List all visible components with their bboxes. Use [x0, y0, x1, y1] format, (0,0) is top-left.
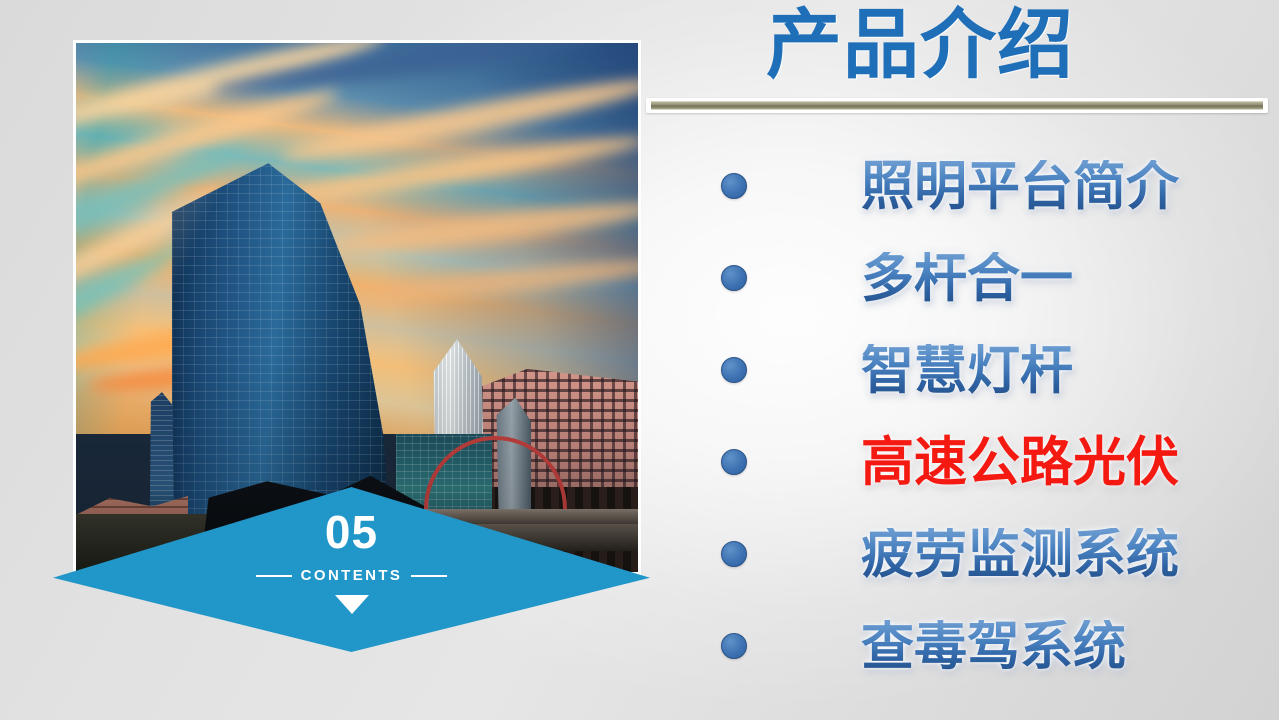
list-item[interactable]: 疲劳监测系统	[700, 508, 1260, 600]
bullet-list: 照明平台简介 多杆合一 智慧灯杆 高速公路光伏 疲劳监测系统 查毒驾系统	[700, 140, 1260, 692]
list-item-label: 疲劳监测系统	[861, 528, 1179, 581]
page-title: 产品介绍	[640, 3, 1200, 87]
bullet-dot-icon	[721, 173, 747, 199]
bullet-dot-icon	[721, 541, 747, 567]
presentation-slide: 05 CONTENTS 产品介绍 照明平台简介 多杆合一 智慧灯杆 高速公路光伏	[0, 0, 1279, 720]
bullet-dot-icon	[721, 265, 747, 291]
list-item[interactable]: 多杆合一	[700, 232, 1260, 324]
divider-bar	[651, 101, 1263, 110]
list-item-highlighted[interactable]: 高速公路光伏	[700, 416, 1260, 508]
list-item-label: 高速公路光伏	[861, 436, 1179, 489]
list-item-label: 查毒驾系统	[861, 620, 1126, 673]
bullet-dot-icon	[721, 357, 747, 383]
list-item[interactable]: 智慧灯杆	[700, 324, 1260, 416]
list-item-label: 多杆合一	[861, 252, 1073, 305]
list-item-label: 智慧灯杆	[861, 344, 1073, 397]
bullet-dot-icon	[721, 449, 747, 475]
list-item-label: 照明平台简介	[861, 160, 1179, 213]
list-item[interactable]: 照明平台简介	[700, 140, 1260, 232]
bullet-dot-icon	[721, 633, 747, 659]
list-item[interactable]: 查毒驾系统	[700, 600, 1260, 692]
title-divider	[646, 98, 1268, 113]
